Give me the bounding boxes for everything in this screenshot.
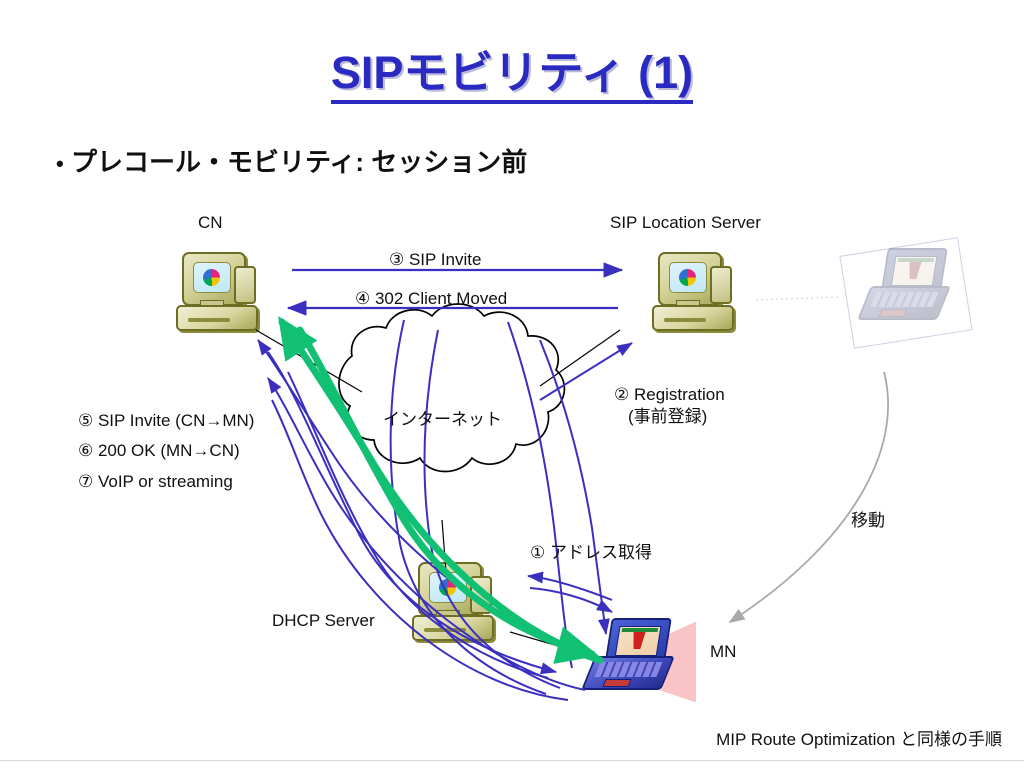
pie-chart-icon [679, 269, 696, 286]
footer-note: MIP Route Optimization と同様の手順 [716, 725, 1002, 750]
slide-canvas: SIPモビリティ (1) • プレコール・モビリティ: セッション前 [0, 0, 1024, 768]
dhcp-drive-slot [424, 628, 466, 632]
cn-computer-icon [176, 252, 262, 330]
bullet-text: プレコール・モビリティ: セッション前 [71, 147, 527, 177]
ghost-screen-glyph [907, 262, 922, 279]
mn-keys [594, 662, 662, 677]
mn-touchpad [602, 679, 631, 687]
arrow-step1-address-request [528, 576, 612, 600]
label-mn: MN [710, 641, 736, 663]
label-cn: CN [198, 212, 223, 234]
sls-drive-slot [664, 318, 706, 322]
arrow-flow-cloud-right-down [508, 322, 572, 668]
dhcp-server-computer-icon [412, 562, 498, 640]
sip-location-server-computer-icon [652, 252, 738, 330]
page-title-text: SIPモビリティ (1) [331, 48, 693, 104]
ghost-screen-bar [898, 258, 935, 262]
label-step2-line2: (事前登録) [628, 406, 725, 428]
internet-cloud [339, 304, 564, 472]
mn-screen [615, 626, 662, 656]
ghost-keyboard-deck [857, 286, 951, 320]
dhcp-base [412, 615, 494, 641]
arrow-flow-cloud-right-to-mn [540, 340, 606, 634]
pie-chart-icon [203, 269, 220, 286]
sls-side-unit [710, 266, 732, 304]
ghost-dotted-connector [756, 297, 840, 300]
mn-keyboard-deck [581, 656, 675, 690]
footer-divider [0, 760, 1024, 761]
label-step3: ③ SIP Invite [389, 249, 481, 271]
page-title: SIPモビリティ (1) [0, 48, 1024, 104]
left-steps-block: ⑤ SIP Invite (CN→MN) ⑥ 200 OK (MN→CN) ⑦ … [78, 410, 254, 493]
bullet-dot: • [56, 151, 64, 176]
mn-previous-position-ghost-icon [862, 248, 954, 328]
mn-screen-bar [622, 628, 659, 632]
cn-base [176, 305, 258, 331]
label-movement: 移動 [851, 510, 885, 532]
label-dhcp-server: DHCP Server [272, 610, 375, 632]
sls-base [652, 305, 734, 331]
mn-screen-glyph [631, 632, 646, 649]
arrow-movement-handover [730, 372, 888, 622]
mn-laptop-icon [586, 618, 678, 698]
ghost-keys [870, 292, 938, 307]
ghost-touchpad [878, 309, 907, 317]
label-internet-cloud: インターネット [383, 409, 502, 431]
left-step-item: ⑦ VoIP or streaming [78, 471, 254, 493]
diagram-vector-layer [0, 0, 1024, 768]
cn-side-unit [234, 266, 256, 304]
label-step2: ② Registration (事前登録) [614, 384, 725, 429]
label-step4: ④ 302 Client Moved [355, 288, 507, 310]
ghost-screen [891, 256, 938, 286]
dhcp-side-unit [470, 576, 492, 614]
label-sip-location-server: SIP Location Server [610, 212, 761, 234]
label-step2-line1: ② Registration [614, 384, 725, 406]
cn-screen [193, 262, 231, 293]
arrow-step7-voip-stream-cn-side [272, 400, 568, 700]
arrow-step1-address-reply [530, 588, 612, 612]
label-step1: ① アドレス取得 [530, 542, 652, 564]
left-step-item: ⑥ 200 OK (MN→CN) [78, 440, 254, 462]
dhcp-screen [429, 572, 467, 603]
sls-screen [669, 262, 707, 293]
left-step-item: ⑤ SIP Invite (CN→MN) [78, 410, 254, 432]
pie-chart-icon [439, 579, 456, 596]
bullet-line: • プレコール・モビリティ: セッション前 [56, 142, 527, 179]
cn-drive-slot [188, 318, 230, 322]
